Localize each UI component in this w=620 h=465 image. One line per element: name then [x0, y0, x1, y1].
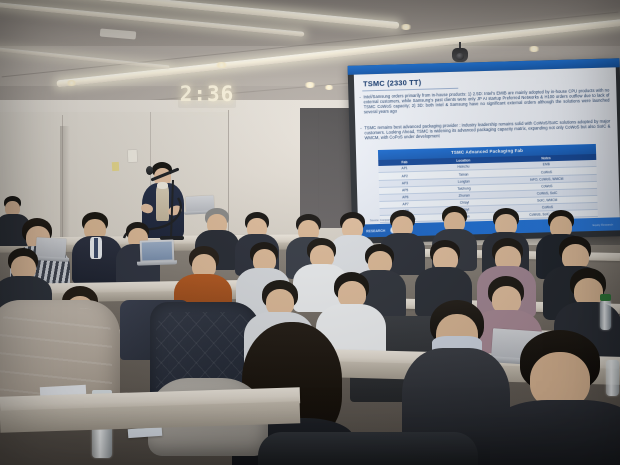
clock-time-text: 2:36 [180, 82, 235, 106]
slide-title-underline [362, 88, 458, 92]
photo-scene: 2:36 TSMC (2330 TT) - Intel/Samsung orde… [0, 0, 620, 465]
footer-brand-right: Equity Research [593, 222, 614, 227]
water-bottle[interactable] [600, 300, 611, 330]
downlight-icon [304, 82, 316, 88]
slide-title: TSMC (2330 TT) [363, 78, 421, 89]
attendee-foreground [500, 330, 620, 465]
downlight-icon [400, 24, 412, 30]
ceiling-projector-icon [452, 42, 468, 62]
bottle-cap[interactable] [600, 294, 611, 301]
bullet-dash: - [359, 94, 361, 99]
slide-bullet-text: Intel/Samsung orders primarily from in-h… [363, 88, 609, 115]
microphone-icon [146, 166, 153, 175]
wall-posted-note [112, 162, 119, 171]
attendee [74, 212, 120, 282]
slide-bullet: - TSMC remains best advanced packaging p… [364, 119, 610, 141]
downlight-icon [324, 85, 334, 90]
laptop-screen [142, 241, 173, 260]
downlight-icon [66, 80, 77, 86]
wall-digital-clock: 2:36 [178, 80, 236, 108]
wall-posted-note [128, 150, 137, 162]
downlight-icon [215, 62, 228, 68]
slide-bullet: - Intel/Samsung orders primarily from in… [363, 88, 609, 115]
bullet-dash: - [360, 125, 362, 130]
slide-bullet-text: TSMC remains best advanced packaging pro… [364, 119, 610, 141]
presenter-collar [157, 182, 168, 189]
downlight-icon [528, 46, 540, 52]
chair-back [258, 432, 478, 465]
